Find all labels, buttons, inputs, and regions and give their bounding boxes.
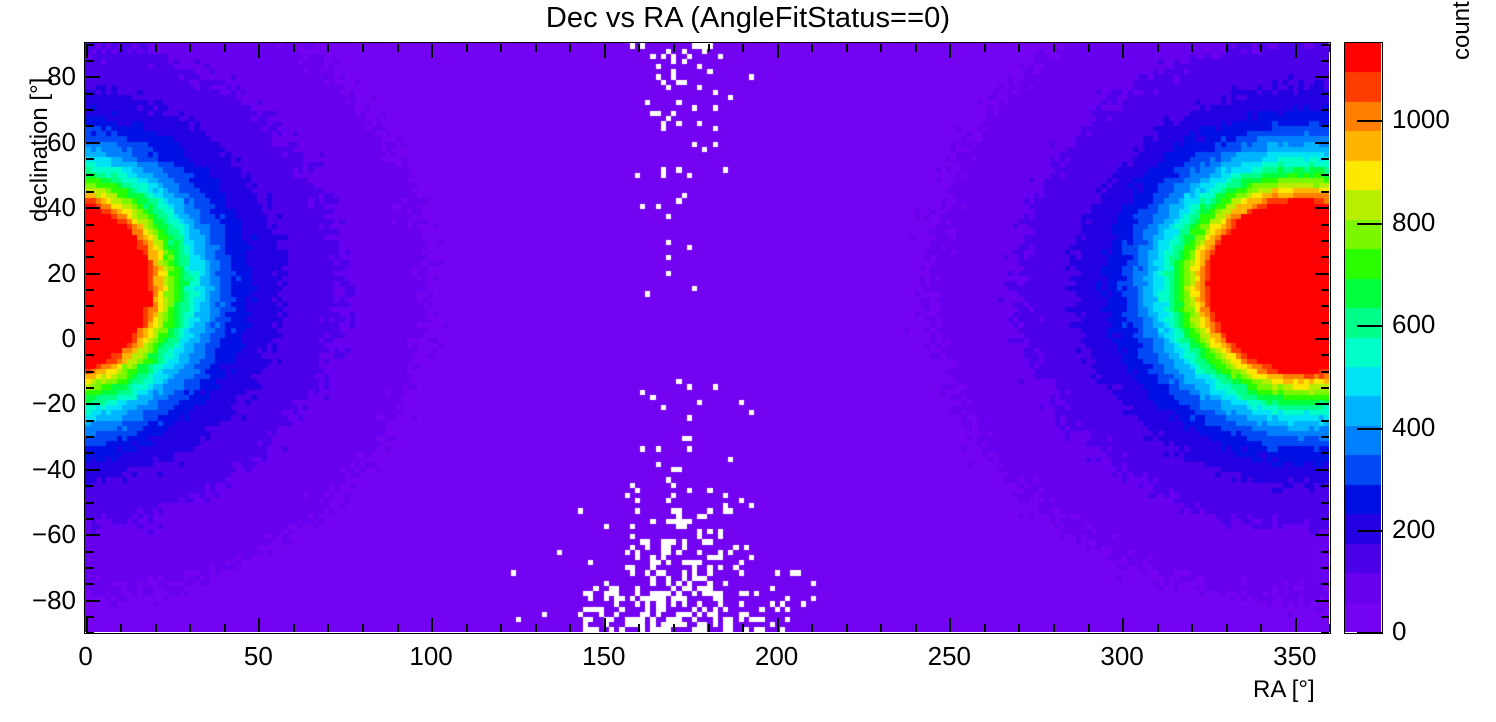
x-axis-tick-label: 100 — [371, 643, 491, 669]
color-bar-tick-label: 1000 — [1392, 106, 1450, 132]
x-axis-tick-label: 300 — [1062, 643, 1182, 669]
y-axis-tick-label: −80 — [0, 587, 76, 613]
color-bar-tick-label: 600 — [1392, 311, 1435, 337]
x-axis-tick-label: 50 — [198, 643, 318, 669]
color-bar-title: count — [1448, 1, 1476, 60]
color-bar-tick-label: 200 — [1392, 516, 1435, 542]
y-axis-tick-label: −40 — [0, 456, 76, 482]
x-axis-title: RA [°] — [1253, 676, 1315, 704]
y-axis-tick-label: 0 — [0, 325, 76, 351]
x-axis-tick-label: 250 — [889, 643, 1009, 669]
page-title: Dec vs RA (AngleFitStatus==0) — [0, 2, 1496, 35]
plot-frame — [84, 42, 1331, 634]
root-canvas: Dec vs RA (AngleFitStatus==0) −80−60−40−… — [0, 0, 1496, 722]
color-bar — [1344, 42, 1383, 634]
y-axis-tick-label: −60 — [0, 521, 76, 547]
x-axis-tick-label: 0 — [26, 643, 146, 669]
y-axis-tick-label: 20 — [0, 260, 76, 286]
heatmap-canvas — [85, 43, 1329, 632]
x-axis-tick-label: 350 — [1235, 643, 1355, 669]
x-axis-tick-label: 150 — [544, 643, 664, 669]
color-bar-tick-label: 800 — [1392, 209, 1435, 235]
color-bar-tick-label: 400 — [1392, 414, 1435, 440]
y-axis-title: declination [°] — [26, 78, 54, 222]
color-bar-canvas — [1345, 43, 1381, 632]
color-bar-tick-label: 0 — [1392, 618, 1406, 644]
x-axis-tick-label: 200 — [717, 643, 837, 669]
y-axis-tick-label: −20 — [0, 390, 76, 416]
